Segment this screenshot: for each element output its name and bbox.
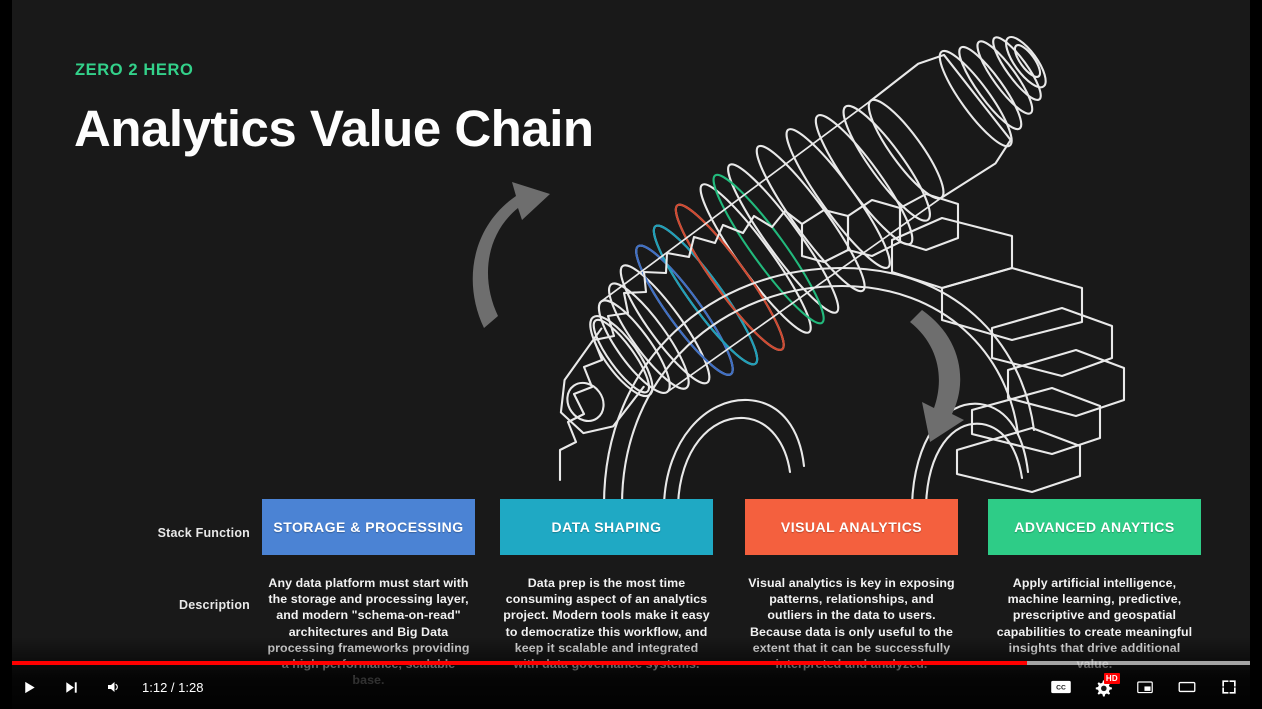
next-video-button[interactable] xyxy=(50,665,92,709)
worm-gear-illustration xyxy=(452,10,1152,505)
fullscreen-icon xyxy=(1219,677,1239,697)
youtube-video-player[interactable]: ZERO 2 HERO Analytics Value Chain xyxy=(0,0,1262,709)
settings-button[interactable]: HD xyxy=(1082,665,1124,709)
card-header-storage-processing[interactable]: STORAGE & PROCESSING xyxy=(262,499,475,555)
card-header-advanced-analytics[interactable]: ADVANCED ANAYTICS xyxy=(988,499,1201,555)
play-button[interactable] xyxy=(8,665,50,709)
miniplayer-button[interactable] xyxy=(1124,665,1166,709)
play-icon xyxy=(21,679,38,696)
captions-icon: CC xyxy=(1050,678,1072,696)
theater-icon xyxy=(1177,677,1197,697)
next-icon xyxy=(63,679,80,696)
slide-eyebrow: ZERO 2 HERO xyxy=(75,61,193,80)
volume-button[interactable] xyxy=(92,665,134,709)
video-frame[interactable]: ZERO 2 HERO Analytics Value Chain xyxy=(12,0,1250,709)
row-label-description: Description xyxy=(110,598,250,612)
player-controls-bar: 1:12 / 1:28 CC HD xyxy=(0,665,1262,709)
card-header-data-shaping[interactable]: DATA SHAPING xyxy=(500,499,713,555)
captions-label: CC xyxy=(1056,685,1066,692)
hd-badge: HD xyxy=(1104,673,1120,684)
captions-button[interactable]: CC xyxy=(1040,665,1082,709)
fullscreen-button[interactable] xyxy=(1208,665,1250,709)
card-header-visual-analytics[interactable]: VISUAL ANALYTICS xyxy=(745,499,958,555)
row-label-stack-function: Stack Function xyxy=(110,526,250,540)
theater-mode-button[interactable] xyxy=(1166,665,1208,709)
miniplayer-icon xyxy=(1135,677,1155,697)
volume-icon xyxy=(104,678,122,696)
left-controls: 1:12 / 1:28 xyxy=(0,665,213,709)
right-controls: CC HD xyxy=(1040,665,1262,709)
time-display: 1:12 / 1:28 xyxy=(134,680,213,695)
